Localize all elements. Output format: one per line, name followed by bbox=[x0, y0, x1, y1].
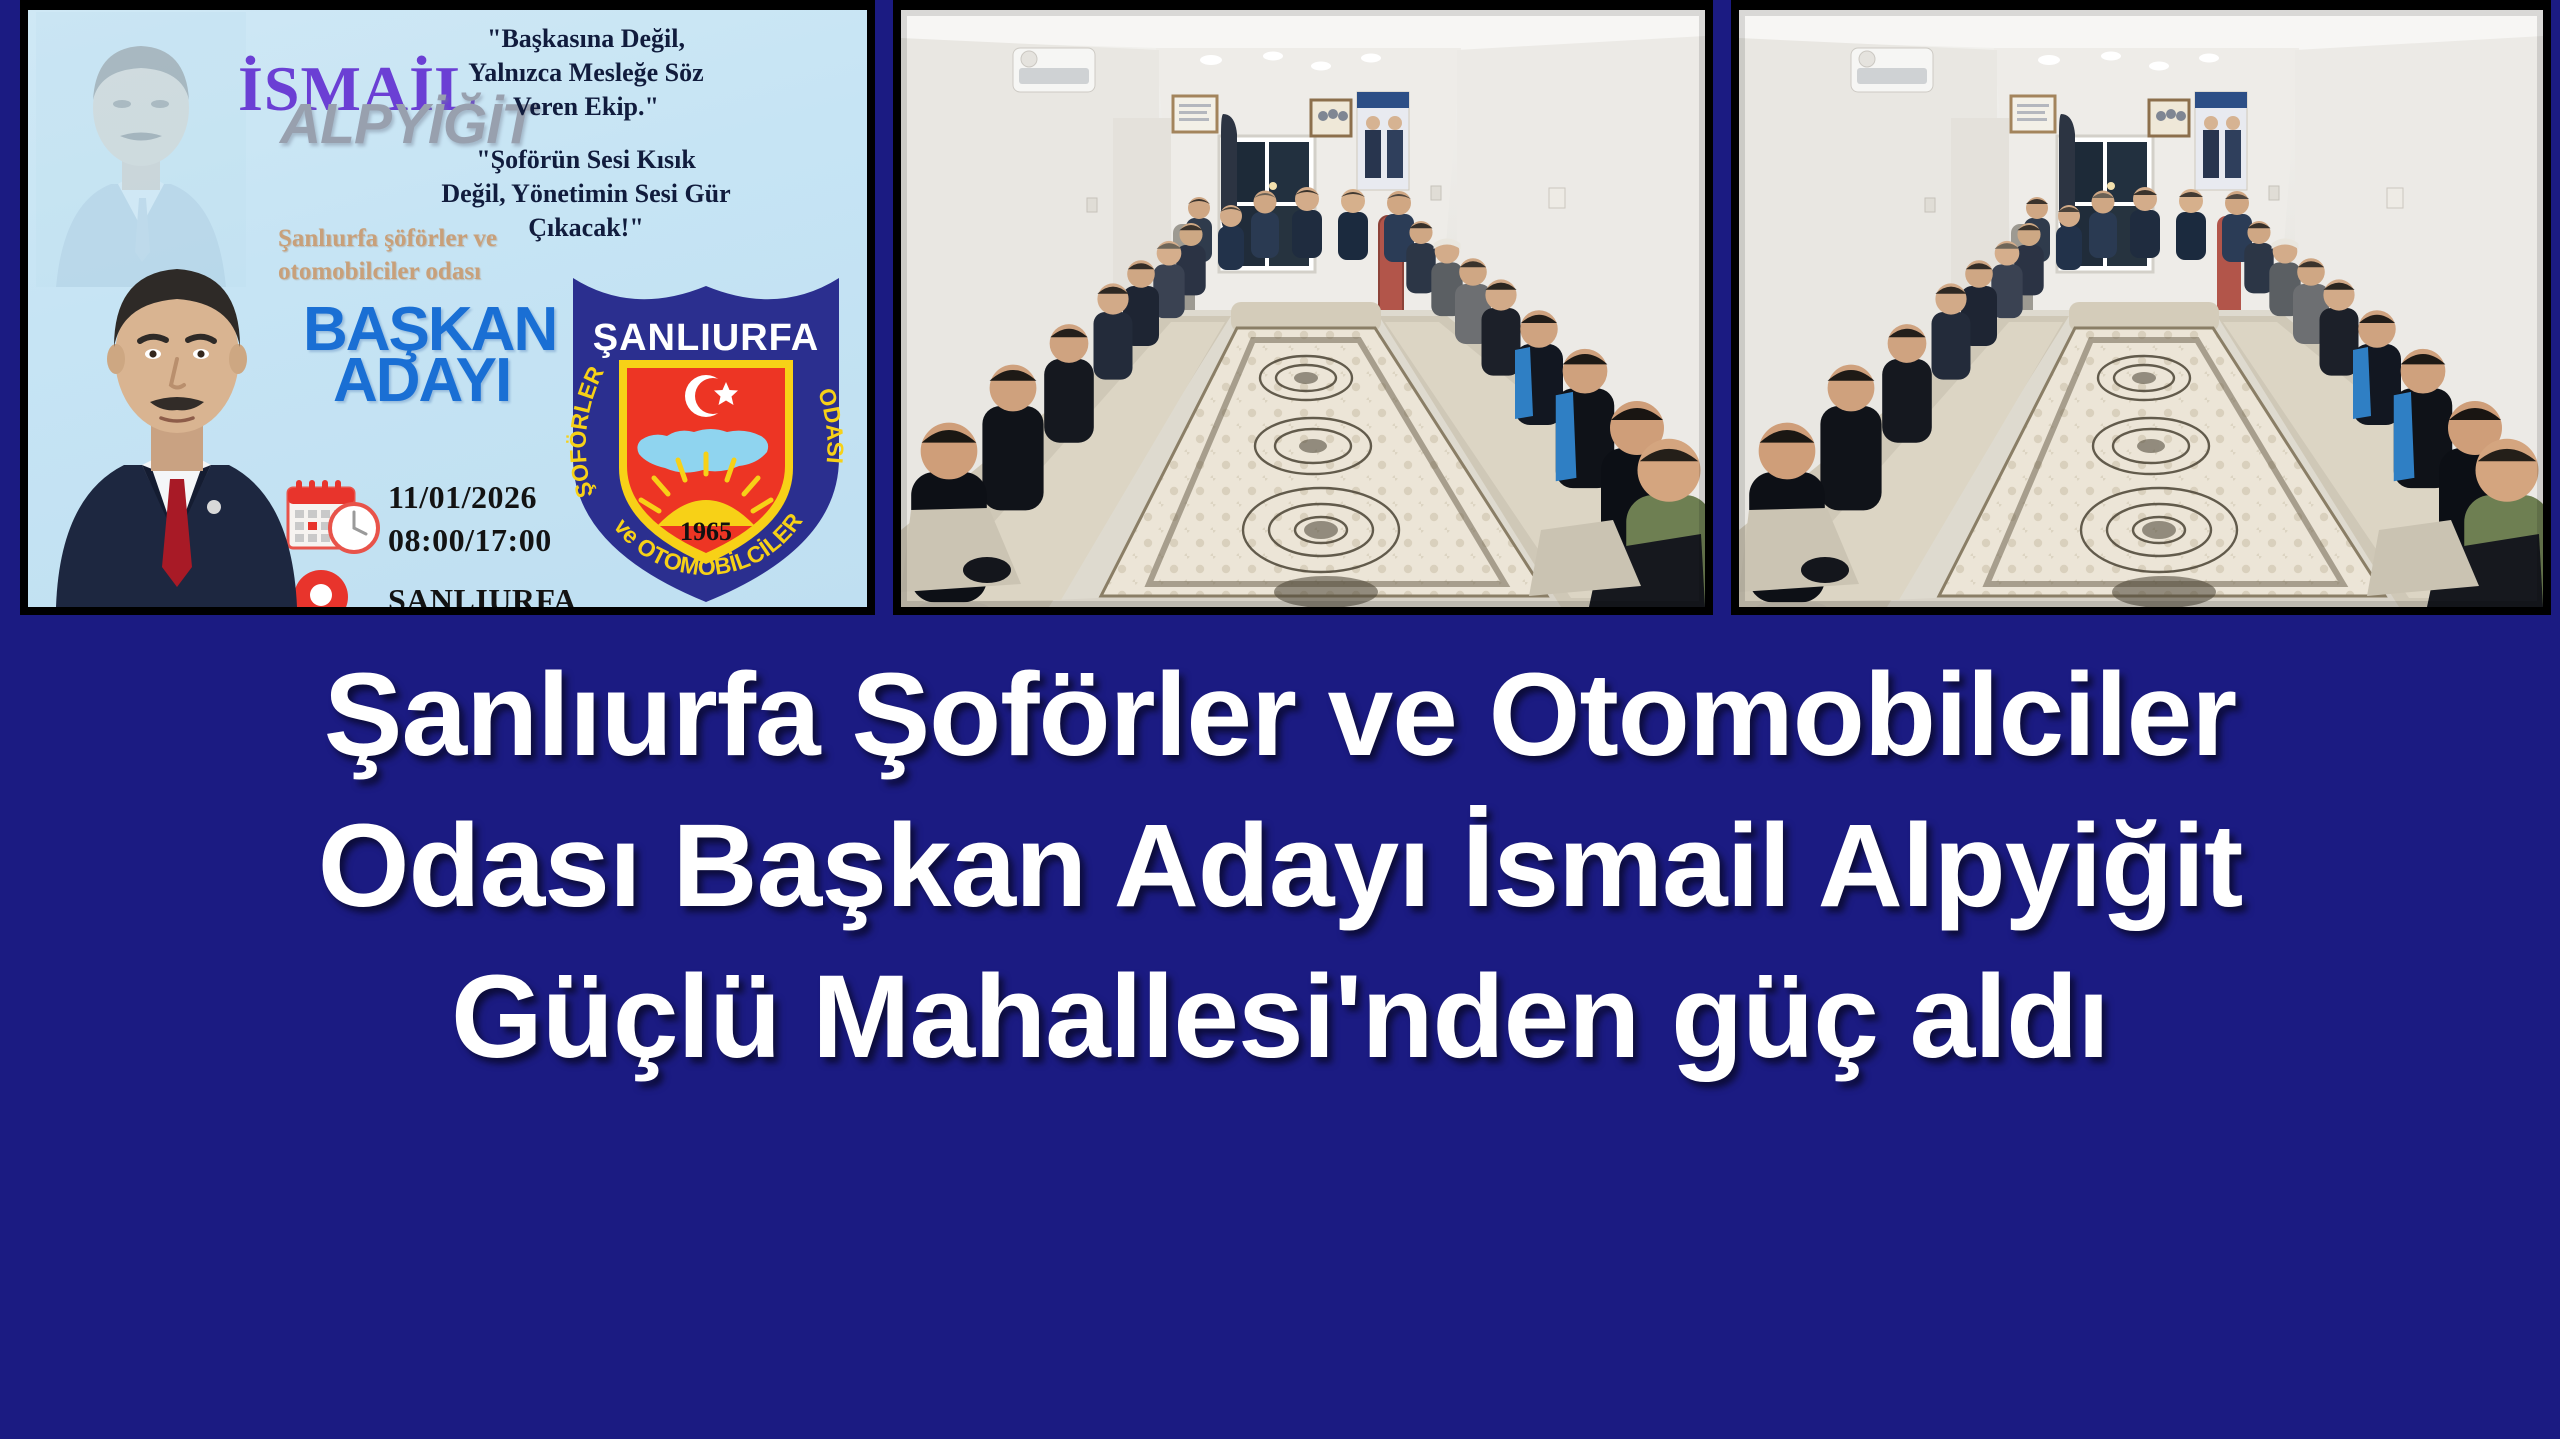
poster-quote-1: "Başkasına Değil, Yalnızca Mesleğe Söz V… bbox=[441, 22, 731, 123]
event-photo-1 bbox=[901, 10, 1705, 607]
headline-line-2: Odası Başkan Adayı İsmail Alpyiğit bbox=[90, 791, 2470, 942]
emblem-year: 1965 bbox=[680, 517, 732, 546]
poster-quotes: "Başkasına Değil, Yalnızca Mesleğe Söz V… bbox=[441, 22, 731, 245]
meeting-room-scene-2 bbox=[1739, 10, 2543, 607]
poster-datetime: 11/01/2026 08:00/17:00 bbox=[388, 476, 552, 562]
event-photo-2 bbox=[1739, 10, 2543, 607]
photo-strip: İSMAİL ALPYİĞİT Şanlıurfa şöförler ve ot… bbox=[0, 0, 2560, 622]
emblem-top-text: ŞANLIURFA bbox=[593, 317, 819, 359]
meeting-room-scene-1 bbox=[901, 10, 1705, 607]
event-photo-2-frame[interactable] bbox=[1731, 0, 2551, 615]
poster-event-details: 11/01/2026 08:00/17:00 ŞANLIURFA bbox=[280, 470, 577, 607]
poster-location: ŞANLIURFA bbox=[388, 579, 577, 607]
chamber-emblem-logo: ŞANLIURFA bbox=[561, 268, 851, 607]
event-photo-1-frame[interactable] bbox=[893, 0, 1713, 615]
poster-role: BAŞKAN ADAYI bbox=[303, 305, 556, 407]
poster-subtitle-line2: otomobilciler odası bbox=[278, 255, 608, 288]
poster-date: 11/01/2026 bbox=[388, 476, 552, 519]
headline-line-1: Şanlıurfa Şoförler ve Otomobilciler bbox=[90, 640, 2470, 791]
campaign-poster-frame[interactable]: İSMAİL ALPYİĞİT Şanlıurfa şöförler ve ot… bbox=[20, 0, 875, 615]
poster-quote-2: "Şoförün Sesi Kısık Değil, Yönetimin Ses… bbox=[441, 143, 731, 244]
campaign-poster: İSMAİL ALPYİĞİT Şanlıurfa şöförler ve ot… bbox=[28, 10, 867, 607]
news-headline: Şanlıurfa Şoförler ve Otomobilciler Odas… bbox=[0, 640, 2560, 1093]
headline-line-3: Güçlü Mahallesi'nden güç aldı bbox=[90, 942, 2470, 1093]
poster-time: 08:00/17:00 bbox=[388, 519, 552, 562]
candidate-portrait-image bbox=[54, 207, 299, 607]
